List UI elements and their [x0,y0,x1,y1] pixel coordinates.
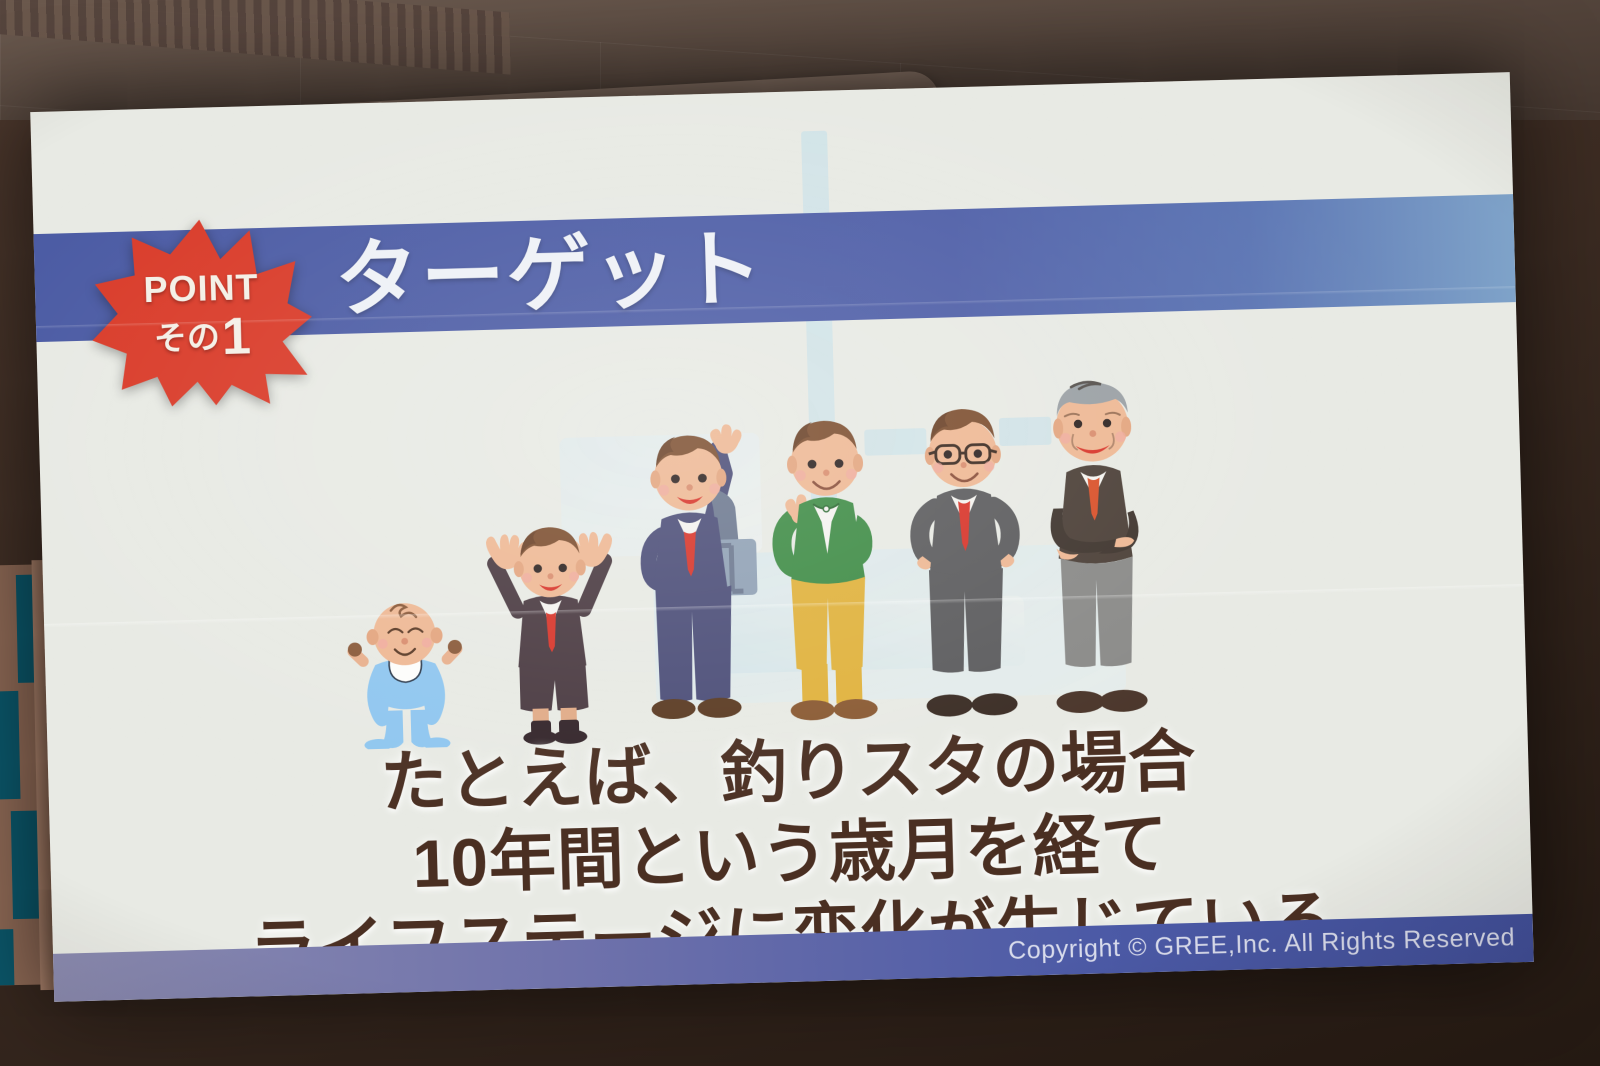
badge-line-2-prefix: その [153,318,220,357]
figure-schoolboy [473,512,629,746]
room-photo: lex E x ターゲット PO [0,0,1600,1066]
badge-line-2-number: 1 [221,307,251,366]
figure-young-businessman [611,409,770,743]
projection-screen: ターゲット POINT その1 [30,72,1534,1002]
figure-baby [344,597,468,750]
point-badge: POINT その1 [89,213,314,409]
badge-line-2: その1 [92,305,314,371]
copyright-text: Copyright © GREE,Inc. All Rights Reserve… [1008,923,1516,966]
figure-elderly-man [1015,360,1175,732]
figure-casual-man [748,390,907,739]
slide: ターゲット POINT その1 [30,72,1534,1002]
